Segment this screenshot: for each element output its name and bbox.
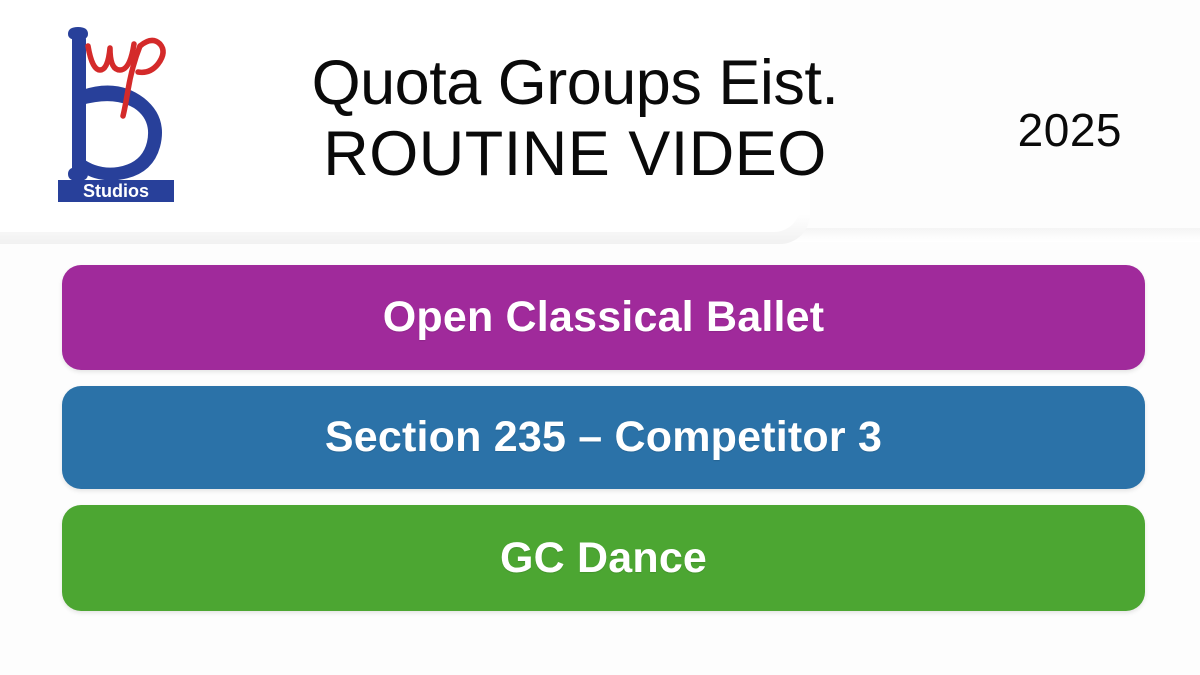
title-line-subtitle: ROUTINE VIDEO bbox=[205, 119, 945, 190]
logo-script-wp-icon bbox=[88, 40, 163, 116]
info-bars-list: Open Classical Ballet Section 235 – Comp… bbox=[62, 265, 1145, 611]
title-line-event: Quota Groups Eist. bbox=[205, 48, 945, 119]
bar-label-section: Section 235 – Competitor 3 bbox=[325, 413, 882, 462]
bwp-studios-logo: Studios bbox=[48, 12, 188, 202]
logo-artwork: Studios bbox=[48, 12, 188, 202]
logo-wordmark-studios: Studios bbox=[58, 180, 174, 202]
year-label: 2025 bbox=[1018, 103, 1122, 157]
bar-label-category: Open Classical Ballet bbox=[383, 293, 825, 342]
bar-section-competitor[interactable]: Section 235 – Competitor 3 bbox=[62, 386, 1145, 489]
bar-label-studio: GC Dance bbox=[500, 534, 707, 583]
svg-text:Studios: Studios bbox=[83, 181, 149, 201]
logo-letter-b-icon bbox=[68, 27, 162, 181]
page-title: Quota Groups Eist. ROUTINE VIDEO bbox=[205, 48, 945, 189]
bar-studio-name[interactable]: GC Dance bbox=[62, 505, 1145, 611]
bar-open-classical-ballet[interactable]: Open Classical Ballet bbox=[62, 265, 1145, 370]
